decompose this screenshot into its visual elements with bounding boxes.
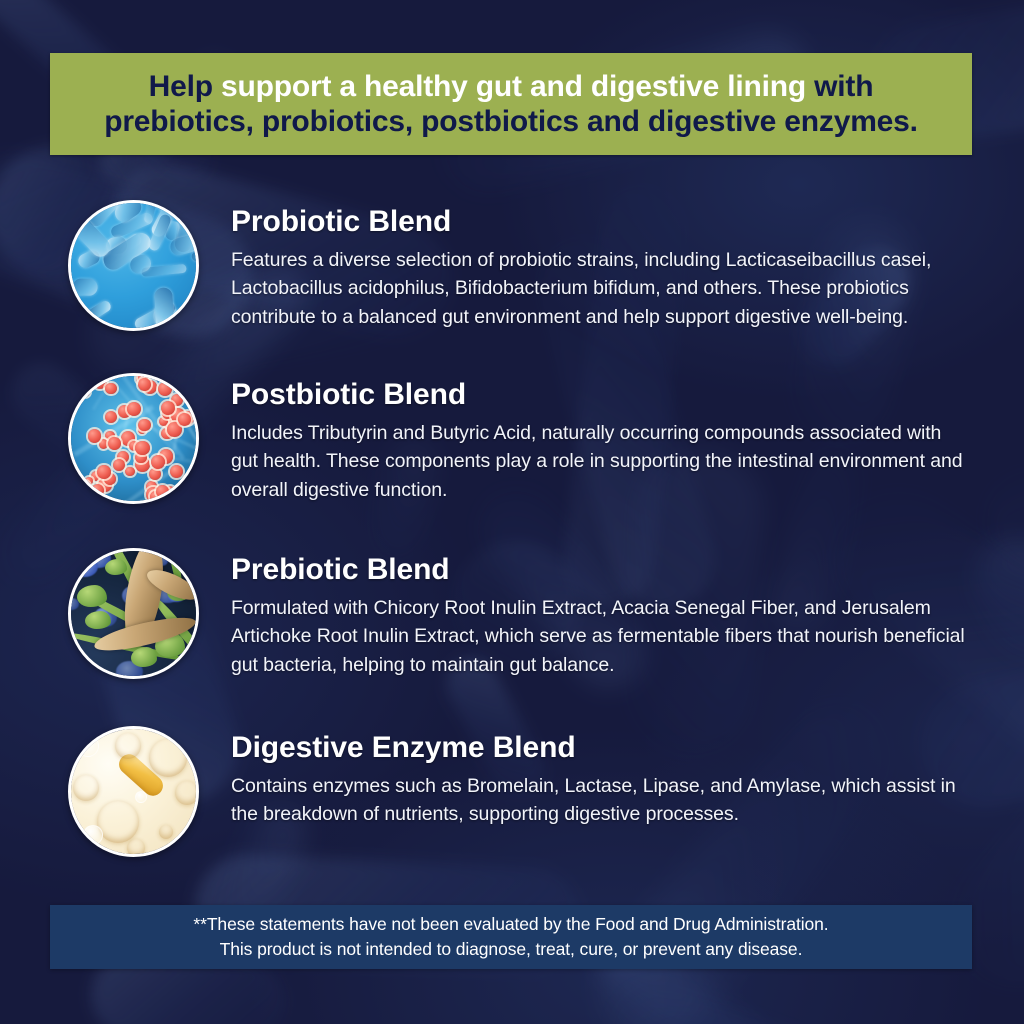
thumb-wrap-probiotic	[64, 200, 202, 331]
headline-banner: Help support a healthy gut and digestive…	[50, 53, 972, 155]
infographic-page: Help support a healthy gut and digestive…	[0, 0, 1024, 1024]
benefit-text-probiotic: Probiotic Blend Features a diverse selec…	[231, 200, 966, 331]
disclaimer-line-1: **These statements have not been evaluat…	[193, 912, 828, 937]
benefit-row-prebiotic: Prebiotic Blend Formulated with Chicory …	[0, 548, 1024, 679]
thumb-wrap-prebiotic	[64, 548, 202, 679]
postbiotic-art	[71, 376, 196, 501]
benefit-title: Digestive Enzyme Blend	[231, 731, 966, 765]
thumb-wrap-enzyme	[64, 726, 202, 857]
headline-with-text: with	[814, 70, 873, 103]
thumb-wrap-postbiotic	[64, 373, 202, 504]
benefit-body: Features a diverse selection of probioti…	[231, 246, 966, 331]
benefit-row-digestive-enzyme: Digestive Enzyme Blend Contains enzymes …	[0, 726, 1024, 857]
headline-help-text: Help	[149, 70, 221, 103]
enzyme-droplet-icon	[68, 726, 199, 857]
headline-support-text: support a healthy gut and digestive lini…	[221, 70, 814, 103]
benefit-text-prebiotic: Prebiotic Blend Formulated with Chicory …	[231, 548, 966, 679]
benefit-title: Probiotic Blend	[231, 205, 966, 239]
probiotic-bacteria-icon	[68, 200, 199, 331]
headline-line-1: Help support a healthy gut and digestive…	[149, 69, 874, 104]
benefit-row-postbiotic: Postbiotic Blend Includes Tributyrin and…	[0, 373, 1024, 504]
benefit-text-enzyme: Digestive Enzyme Blend Contains enzymes …	[231, 726, 966, 829]
benefit-text-postbiotic: Postbiotic Blend Includes Tributyrin and…	[231, 373, 966, 504]
benefit-row-probiotic: Probiotic Blend Features a diverse selec…	[0, 200, 1024, 331]
benefit-body: Includes Tributyrin and Butyric Acid, na…	[231, 419, 966, 504]
prebiotic-art	[71, 551, 196, 676]
benefit-body: Contains enzymes such as Bromelain, Lact…	[231, 772, 966, 829]
disclaimer-box: **These statements have not been evaluat…	[50, 905, 972, 969]
headline-line-2: prebiotics, probiotics, postbiotics and …	[104, 104, 918, 139]
postbiotic-cells-icon	[68, 373, 199, 504]
benefit-title: Postbiotic Blend	[231, 378, 966, 412]
chicory-root-icon	[68, 548, 199, 679]
probiotic-art	[71, 203, 196, 328]
enzyme-art	[71, 729, 196, 854]
benefit-title: Prebiotic Blend	[231, 553, 966, 587]
disclaimer-line-2: This product is not intended to diagnose…	[220, 937, 803, 962]
benefit-body: Formulated with Chicory Root Inulin Extr…	[231, 594, 966, 679]
